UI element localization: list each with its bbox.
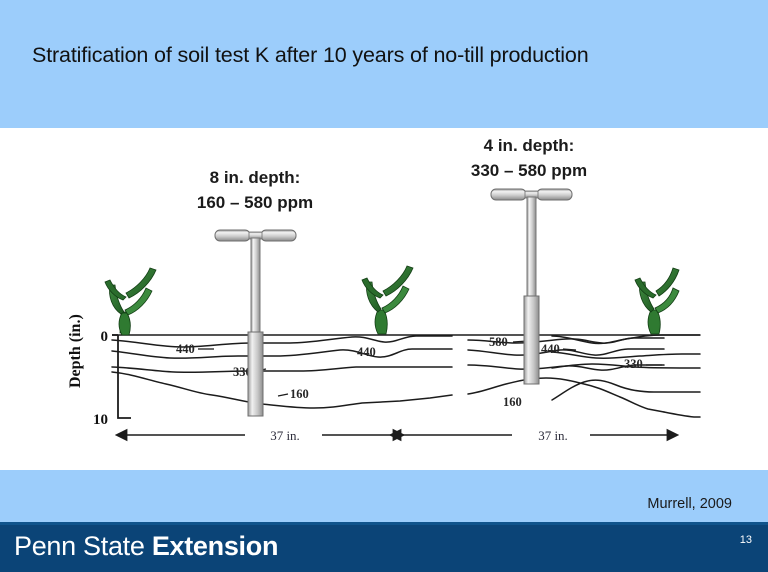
dimension-lines: 37 in. 37 in. — [126, 428, 668, 443]
dimension-label-right: 37 in. — [538, 428, 568, 443]
right-probe-callout: 4 in. depth: 330 – 580 ppm — [471, 136, 587, 180]
contour-path-330-left — [112, 367, 452, 372]
slide-header: Stratification of soil test K after 10 y… — [0, 0, 768, 128]
slide: Stratification of soil test K after 10 y… — [0, 0, 768, 572]
contour-label-580: 580 — [489, 335, 508, 349]
citation-band: Murrell, 2009 — [0, 470, 768, 522]
right-probe-callout-line2: 330 – 580 ppm — [471, 161, 587, 180]
dimension-label-left: 37 in. — [270, 428, 300, 443]
contour-path-lower-right — [552, 380, 700, 400]
axis-title-depth: Depth (in.) — [67, 314, 84, 388]
axis-tick-10: 10 — [93, 412, 108, 428]
slide-page-number: 13 — [740, 534, 752, 546]
soil-probe-right — [491, 189, 572, 384]
contour-label-160-b: 160 — [503, 395, 522, 409]
slide-footer: Penn State Extension 13 — [0, 522, 768, 572]
contour-path-deep-right — [664, 412, 700, 417]
contour-label-440-c: 440 — [541, 342, 560, 356]
contour-lines — [112, 335, 700, 417]
brand-penn-state: Penn State — [14, 531, 145, 561]
footer-stripe — [0, 522, 768, 525]
soil-probe-left — [215, 230, 296, 416]
axis-tick-0: 0 — [101, 329, 109, 345]
contour-path-160-left — [112, 372, 452, 408]
leader-160-a — [278, 394, 288, 396]
brand-extension: Extension — [152, 531, 278, 561]
corn-plant-right — [635, 268, 679, 334]
contour-label-330-b: 330 — [624, 357, 643, 371]
contour-label-440-b: 440 — [357, 345, 376, 359]
left-probe-callout-line1: 8 in. depth: — [210, 168, 301, 187]
right-probe-callout-line1: 4 in. depth: — [484, 136, 575, 155]
page-title: Stratification of soil test K after 10 y… — [32, 43, 732, 68]
contour-path-160-mid — [468, 378, 664, 412]
contour-label-440-a: 440 — [176, 342, 195, 356]
contour-path-440-left — [112, 336, 452, 347]
corn-plant-middle — [362, 266, 413, 334]
left-probe-callout-line2: 160 – 580 ppm — [197, 193, 313, 212]
contour-path-440b-left — [112, 349, 452, 358]
left-probe-callout: 8 in. depth: 160 – 580 ppm — [197, 168, 313, 212]
figure-panel: 8 in. depth: 160 – 580 ppm 4 in. depth: … — [0, 128, 768, 470]
corn-plant-left — [105, 268, 156, 335]
contour-label-160-a: 160 — [290, 387, 309, 401]
soil-stratification-diagram: 8 in. depth: 160 – 580 ppm 4 in. depth: … — [0, 128, 768, 470]
contour-path-top-right — [552, 335, 700, 344]
source-citation: Murrell, 2009 — [647, 496, 732, 512]
penn-state-extension-logo: Penn State Extension — [14, 531, 278, 562]
